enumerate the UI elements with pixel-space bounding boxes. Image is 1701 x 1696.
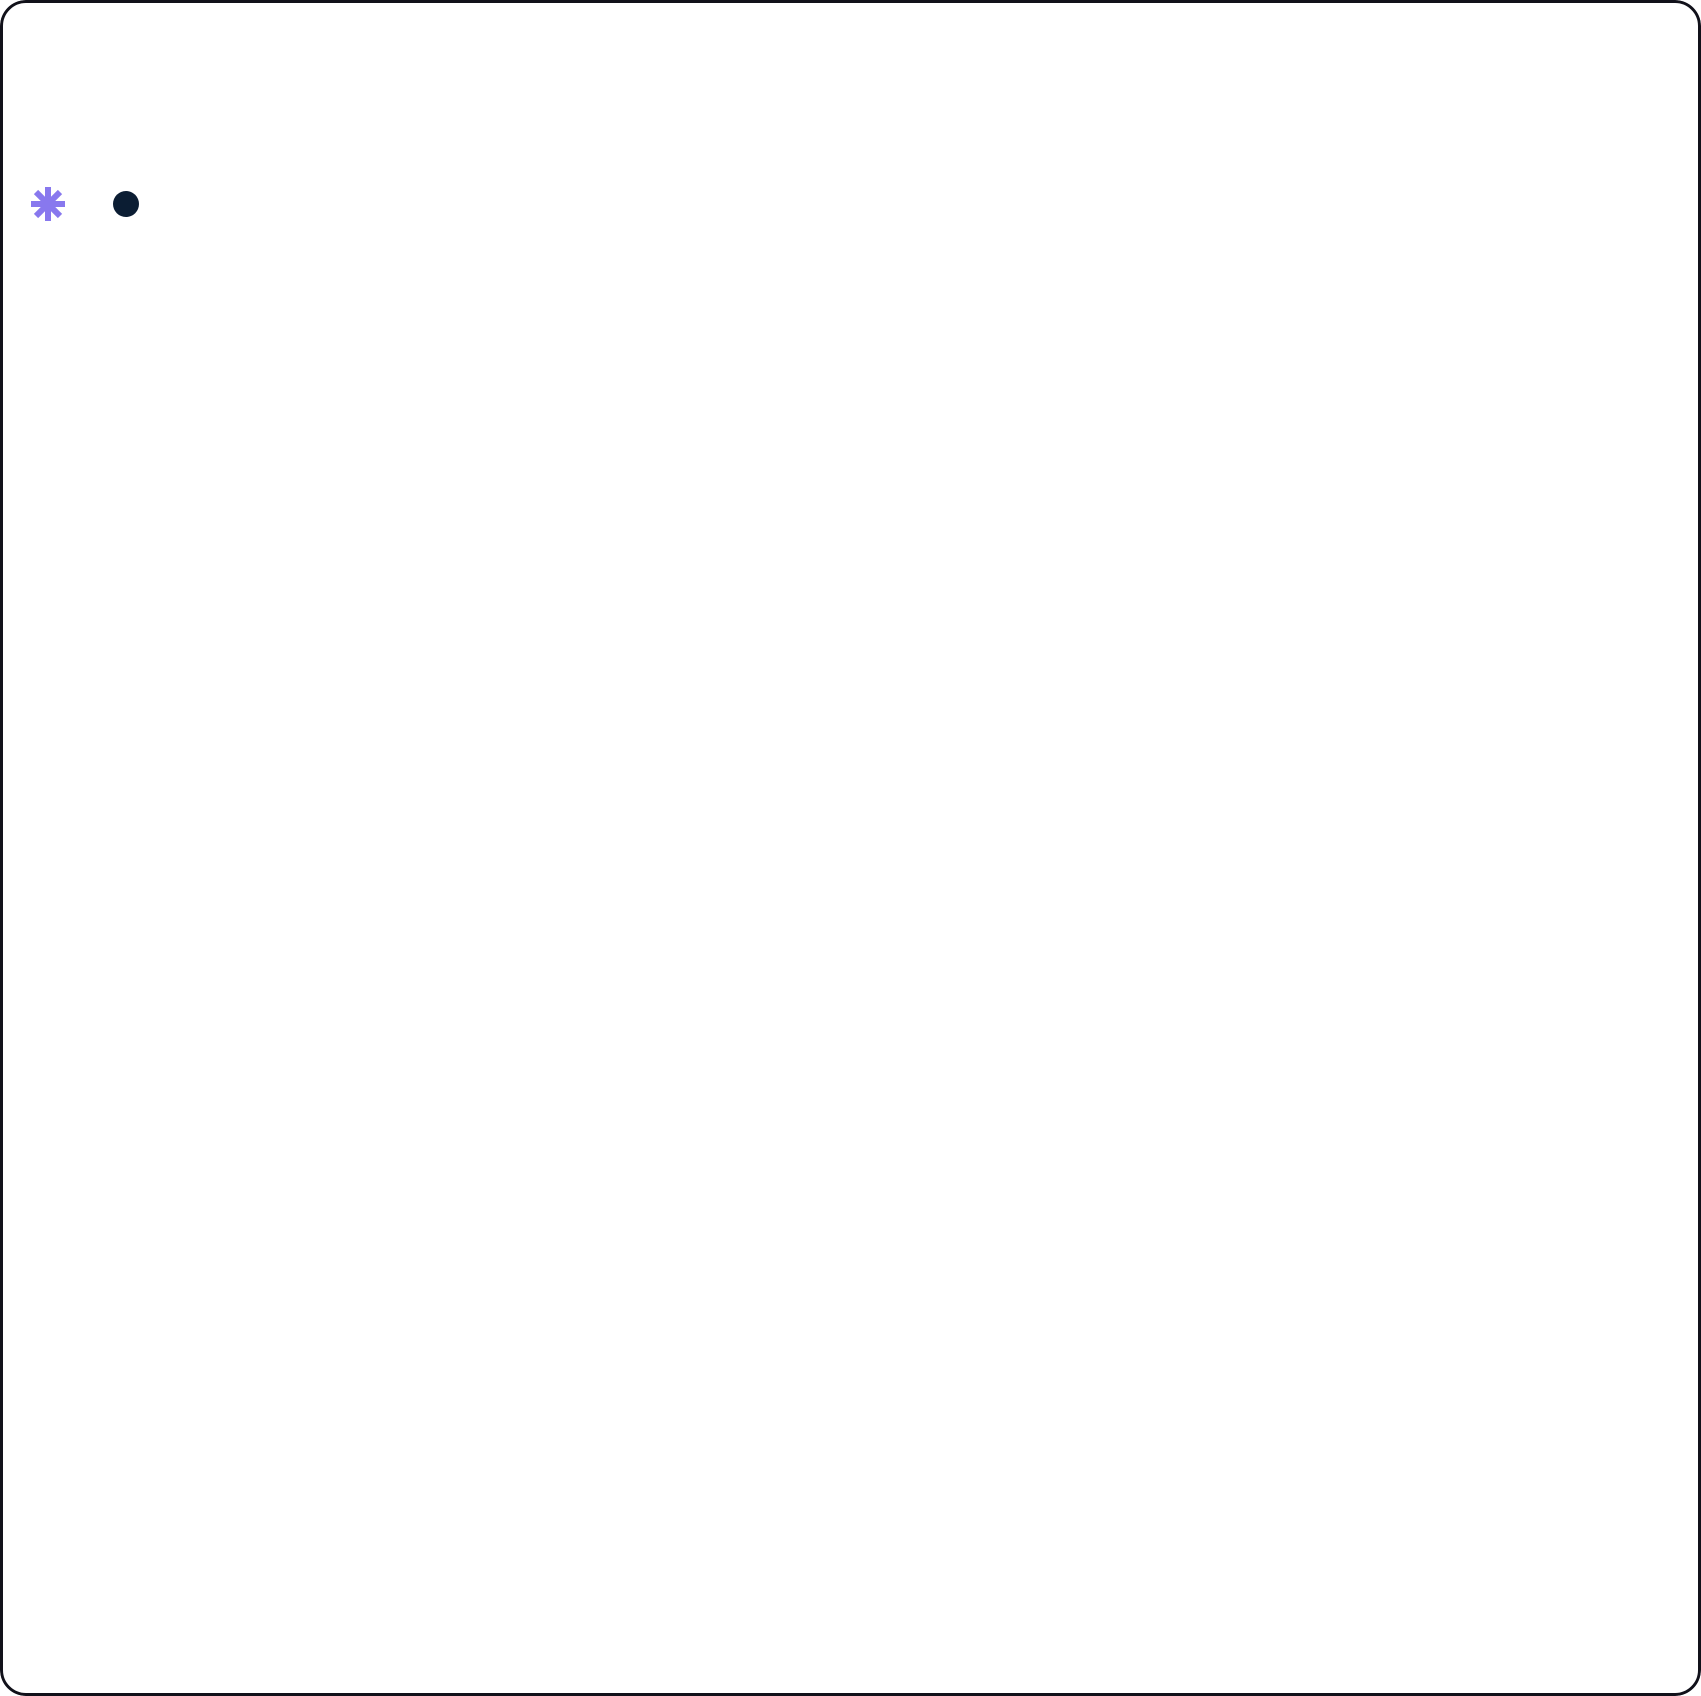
chart-svg [0,0,1701,1696]
chart-card [0,0,1701,1696]
plot-area [0,0,1701,1696]
